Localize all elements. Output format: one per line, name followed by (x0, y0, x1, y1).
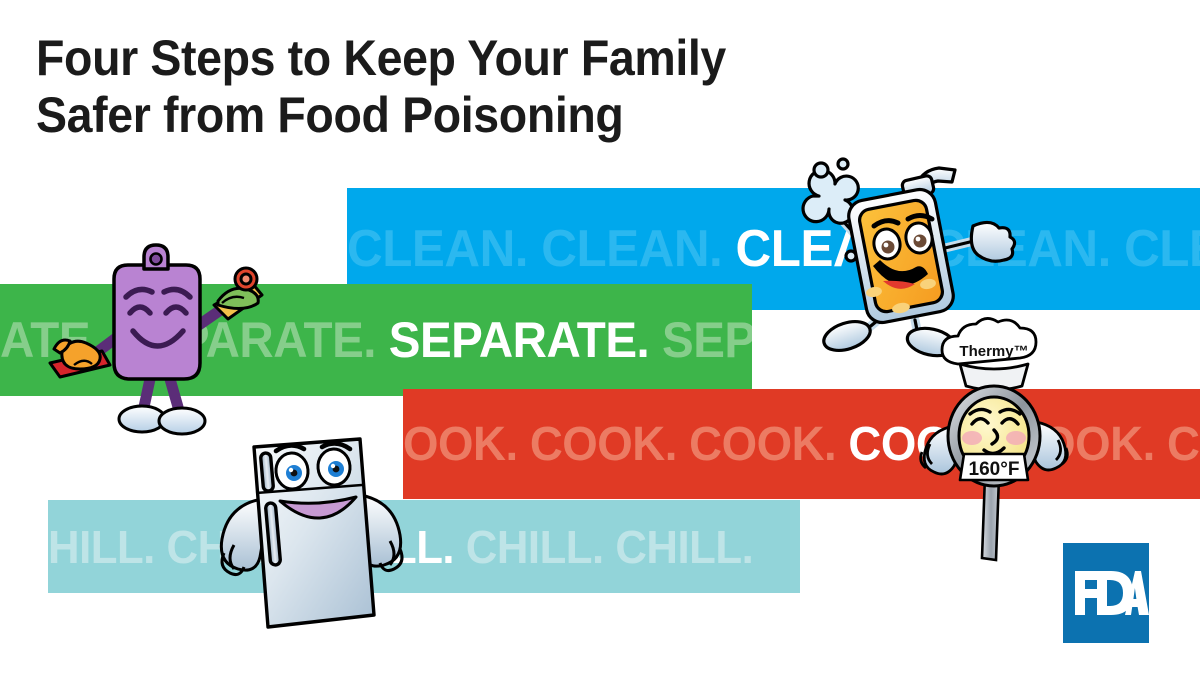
separate-label: SEPARATE. (389, 312, 650, 368)
clean-ghost-before: CLEAN. CLEAN. (347, 220, 736, 278)
step-band-cook: OOK. COOK. COOK. COOK. COOK. COOK. (403, 389, 1200, 499)
page-title: Four Steps to Keep Your Family Safer fro… (36, 30, 873, 144)
cook-ghost-before: OOK. COOK. COOK. (403, 418, 848, 471)
soap-bottle-mascot (795, 148, 1010, 343)
fda-logo (1063, 543, 1149, 643)
poster-canvas: Four Steps to Keep Your Family Safer fro… (0, 0, 1200, 675)
clean-band-text: CLEAN. CLEAN. CLEAN. CLEAN. CLEAN. CLEAN… (347, 219, 1200, 279)
separate-ghost-after: SEPARATE. SEPARATE. (649, 312, 752, 368)
refrigerator-mascot (218, 435, 413, 635)
thermometer-mascot: Thermy™ (920, 330, 1070, 565)
thermy-hat-label: Thermy™ (959, 343, 1028, 360)
cook-band-text: OOK. COOK. COOK. COOK. COOK. COOK. (403, 417, 1200, 472)
step-band-chill: HILL. CHILL. CHILL. CHILL. CHILL. (48, 500, 800, 593)
cutting-board-mascot (38, 243, 273, 438)
chill-ghost-after: CHILL. CHILL. (454, 521, 753, 573)
thermy-dial-reading: 160°F (969, 459, 1020, 480)
